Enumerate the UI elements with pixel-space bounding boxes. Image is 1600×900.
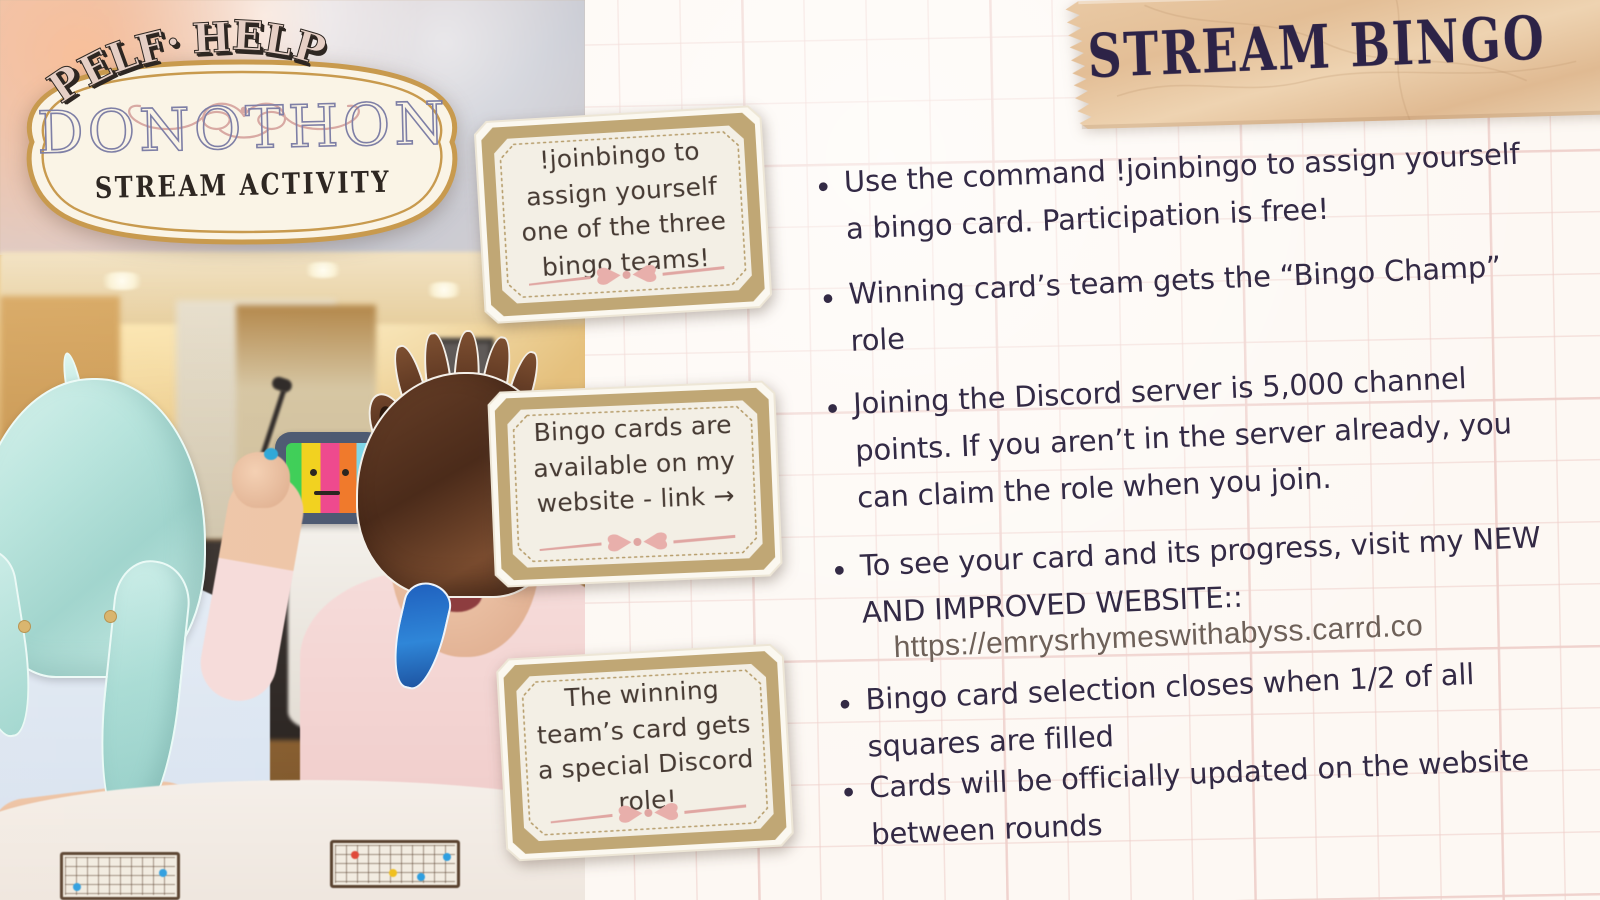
bingo-chip-icon bbox=[159, 869, 167, 877]
bullet-icon: • bbox=[818, 271, 840, 366]
list-item: • Joining the Discord server is 5,000 ch… bbox=[823, 352, 1548, 523]
bingo-chip-icon bbox=[443, 853, 451, 861]
photo-blue-nail bbox=[264, 448, 278, 460]
bingo-chip-icon bbox=[351, 851, 359, 859]
bingo-chip-icon bbox=[417, 873, 425, 881]
logo-title: DONOTHON bbox=[7, 88, 479, 167]
poster-canvas: P E L F · H E L P DONOTHON STREAM ACTIVI… bbox=[0, 0, 1600, 900]
list-item: • Winning card’s team gets the “Bingo Ch… bbox=[818, 242, 1541, 366]
list-item-text: Winning card’s team gets the “Bingo Cham… bbox=[848, 242, 1541, 365]
logo-kicker-letter: E bbox=[231, 11, 265, 61]
list-item: • Use the command !joinbingo to assign y… bbox=[813, 130, 1536, 254]
bullet-icon: • bbox=[829, 543, 851, 638]
logo-kicker-letter: H bbox=[191, 13, 232, 63]
bingo-chip-icon bbox=[73, 883, 81, 891]
bullet-icon: • bbox=[835, 677, 857, 772]
stream-bingo-header-tape: STREAM BINGO bbox=[1054, 0, 1600, 130]
bingo-chip-icon bbox=[389, 869, 397, 877]
tv-eye-icon bbox=[310, 469, 317, 476]
info-card-1: !joinbingo to assign yourself one of the… bbox=[472, 104, 774, 326]
ceiling-light-icon bbox=[422, 282, 466, 298]
photo-woman-fist bbox=[232, 452, 290, 508]
hair-bead-icon bbox=[104, 610, 117, 623]
info-card-text: Bingo cards are available on my website … bbox=[517, 406, 751, 522]
ceiling-light-icon bbox=[300, 262, 346, 278]
bingo-rules-list: • Use the command !joinbingo to assign y… bbox=[813, 122, 1600, 883]
ceiling-light-icon bbox=[96, 272, 148, 290]
info-card-2: Bingo cards are available on my website … bbox=[486, 379, 784, 589]
tv-eye-icon bbox=[342, 469, 349, 476]
bullet-icon: • bbox=[813, 159, 835, 254]
donothon-logo: P E L F · H E L P DONOTHON STREAM ACTIVI… bbox=[8, 10, 478, 250]
bullet-icon: • bbox=[839, 765, 861, 860]
list-item-text: Joining the Discord server is 5,000 chan… bbox=[852, 352, 1547, 522]
hair-bead-icon bbox=[18, 620, 31, 633]
list-item-text: Use the command !joinbingo to assign you… bbox=[843, 130, 1536, 253]
info-card-3: The winning team’s card gets a special D… bbox=[495, 642, 796, 863]
photo-bingo-card bbox=[60, 852, 180, 900]
photo-bingo-card bbox=[330, 840, 460, 888]
tv-mouth-icon bbox=[314, 491, 340, 495]
